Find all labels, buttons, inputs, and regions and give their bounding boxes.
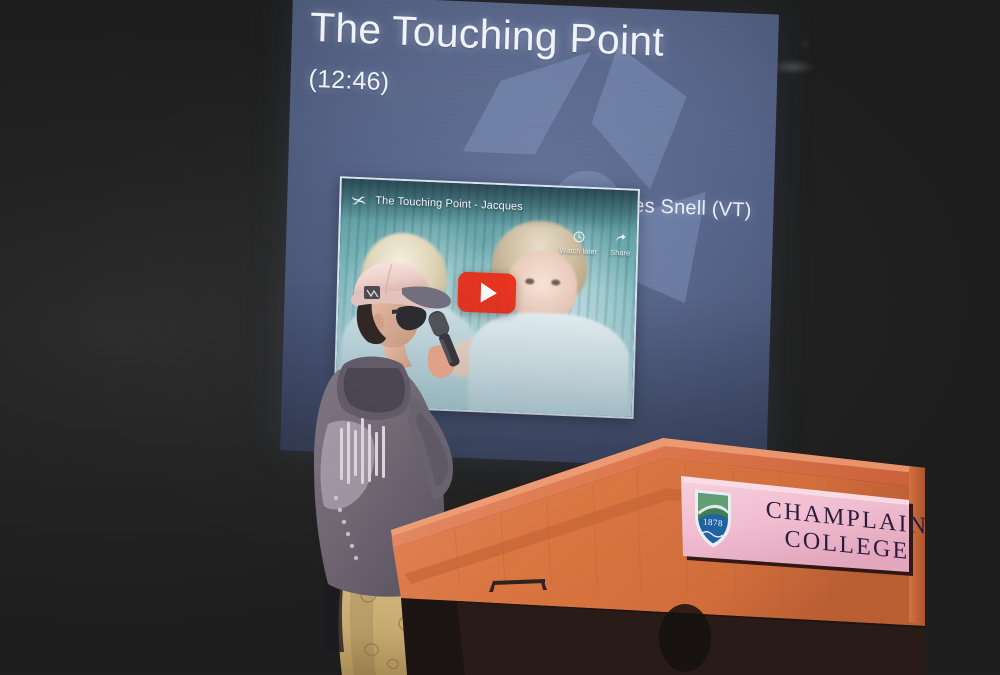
watch-later-label: Watch later	[559, 246, 597, 257]
child-right-eye-right	[551, 279, 560, 285]
share-arrow-icon	[614, 232, 627, 246]
slide-title-text: The Touching Point	[309, 4, 664, 65]
share-button[interactable]: Share	[610, 232, 631, 258]
video-embed-actions: Watch later Share	[559, 230, 630, 258]
child-right-eye-left	[525, 278, 534, 284]
lectern	[385, 412, 925, 675]
watch-later-button[interactable]: Watch later	[559, 230, 597, 257]
clock-icon	[572, 230, 585, 244]
slide-duration: (12:46)	[308, 65, 389, 96]
presenter-hand-and-mic	[426, 309, 463, 378]
lectern-base-dark-spot	[659, 604, 711, 672]
video-embed-title: The Touching Point - Jacques	[375, 195, 523, 213]
slide-title: The Touching Point (12:46)	[308, 5, 741, 115]
share-label: Share	[610, 248, 630, 258]
baseball-cap	[351, 262, 451, 310]
pinwheel-logo-icon	[349, 190, 369, 210]
presentation-photo: The Touching Point (12:46) By Jacques Sn…	[0, 0, 1000, 675]
